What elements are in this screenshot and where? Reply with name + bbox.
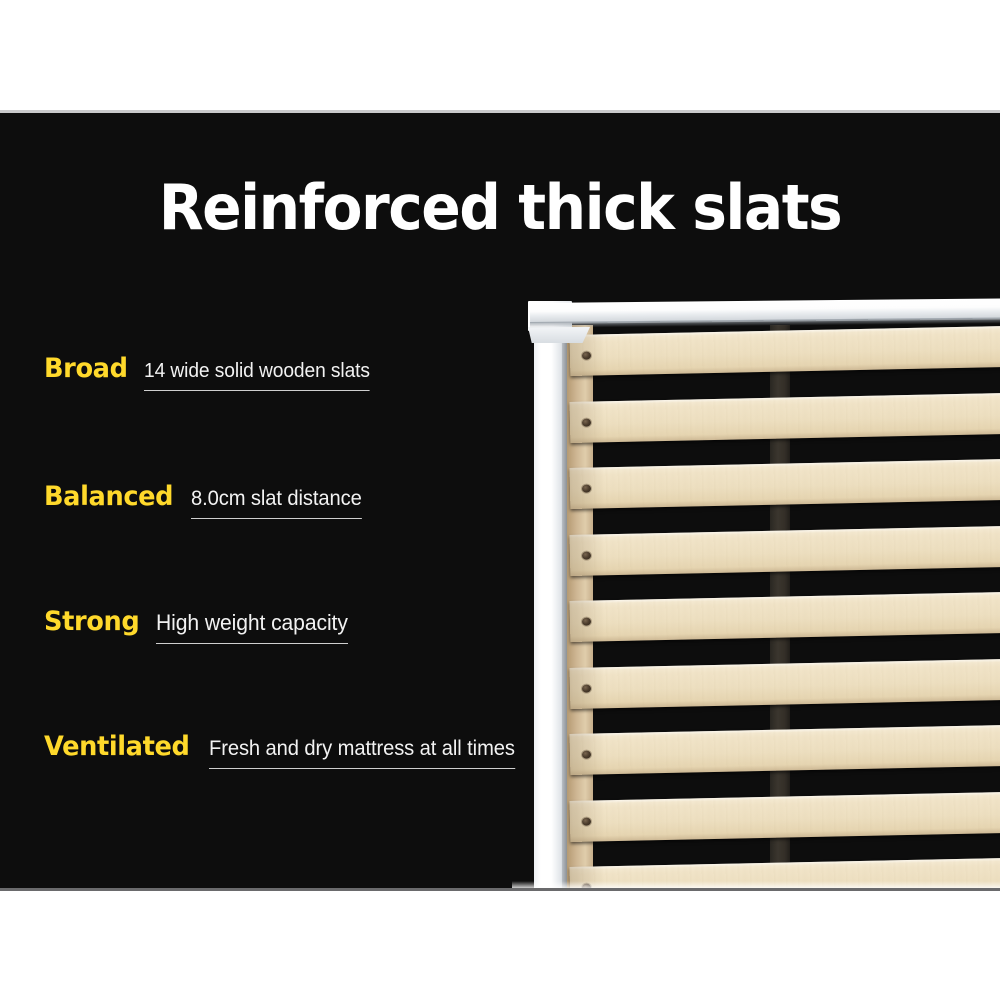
slat: [570, 526, 1000, 576]
feature-key-strong: Strong: [44, 606, 139, 637]
product-photo: [512, 113, 1000, 889]
corner-post-edge: [562, 321, 567, 889]
feature-list: Broad 14 wide solid wooden slats Balance…: [44, 353, 564, 856]
slat: [570, 393, 1000, 443]
bed-frame-illustration: [512, 113, 1000, 889]
slat-screw: [582, 617, 591, 625]
feature-key-balanced: Balanced: [44, 481, 173, 512]
feature-value-strong: High weight capacity: [156, 610, 348, 644]
white-corner-post: [534, 321, 564, 889]
slat: [570, 792, 1000, 842]
feature-value-balanced: 8.0cm slat distance: [191, 487, 362, 519]
screenshot-canvas: Reinforced thick slats Broad 14 wide sol…: [0, 0, 1000, 1000]
feature-item-ventilated: Ventilated Fresh and dry mattress at all…: [44, 731, 564, 856]
slat: [570, 592, 1000, 642]
slat-screw: [582, 484, 591, 492]
feature-key-ventilated: Ventilated: [44, 731, 189, 762]
slat: [570, 326, 1000, 376]
slat-screw: [582, 750, 591, 758]
feature-item-broad: Broad 14 wide solid wooden slats: [44, 353, 564, 481]
slat: [570, 459, 1000, 509]
slat-screw: [582, 351, 591, 359]
feature-item-strong: Strong High weight capacity: [44, 606, 564, 731]
corner-post-bevel: [528, 327, 590, 343]
feature-value-broad: 14 wide solid wooden slats: [144, 360, 370, 391]
slat: [570, 659, 1000, 709]
bottom-white-margin: [0, 891, 1000, 1000]
feature-item-balanced: Balanced 8.0cm slat distance: [44, 481, 564, 606]
slat: [570, 725, 1000, 775]
feature-key-broad: Broad: [44, 353, 128, 384]
top-white-margin: [0, 0, 1000, 113]
feature-value-ventilated: Fresh and dry mattress at all times: [209, 737, 515, 769]
